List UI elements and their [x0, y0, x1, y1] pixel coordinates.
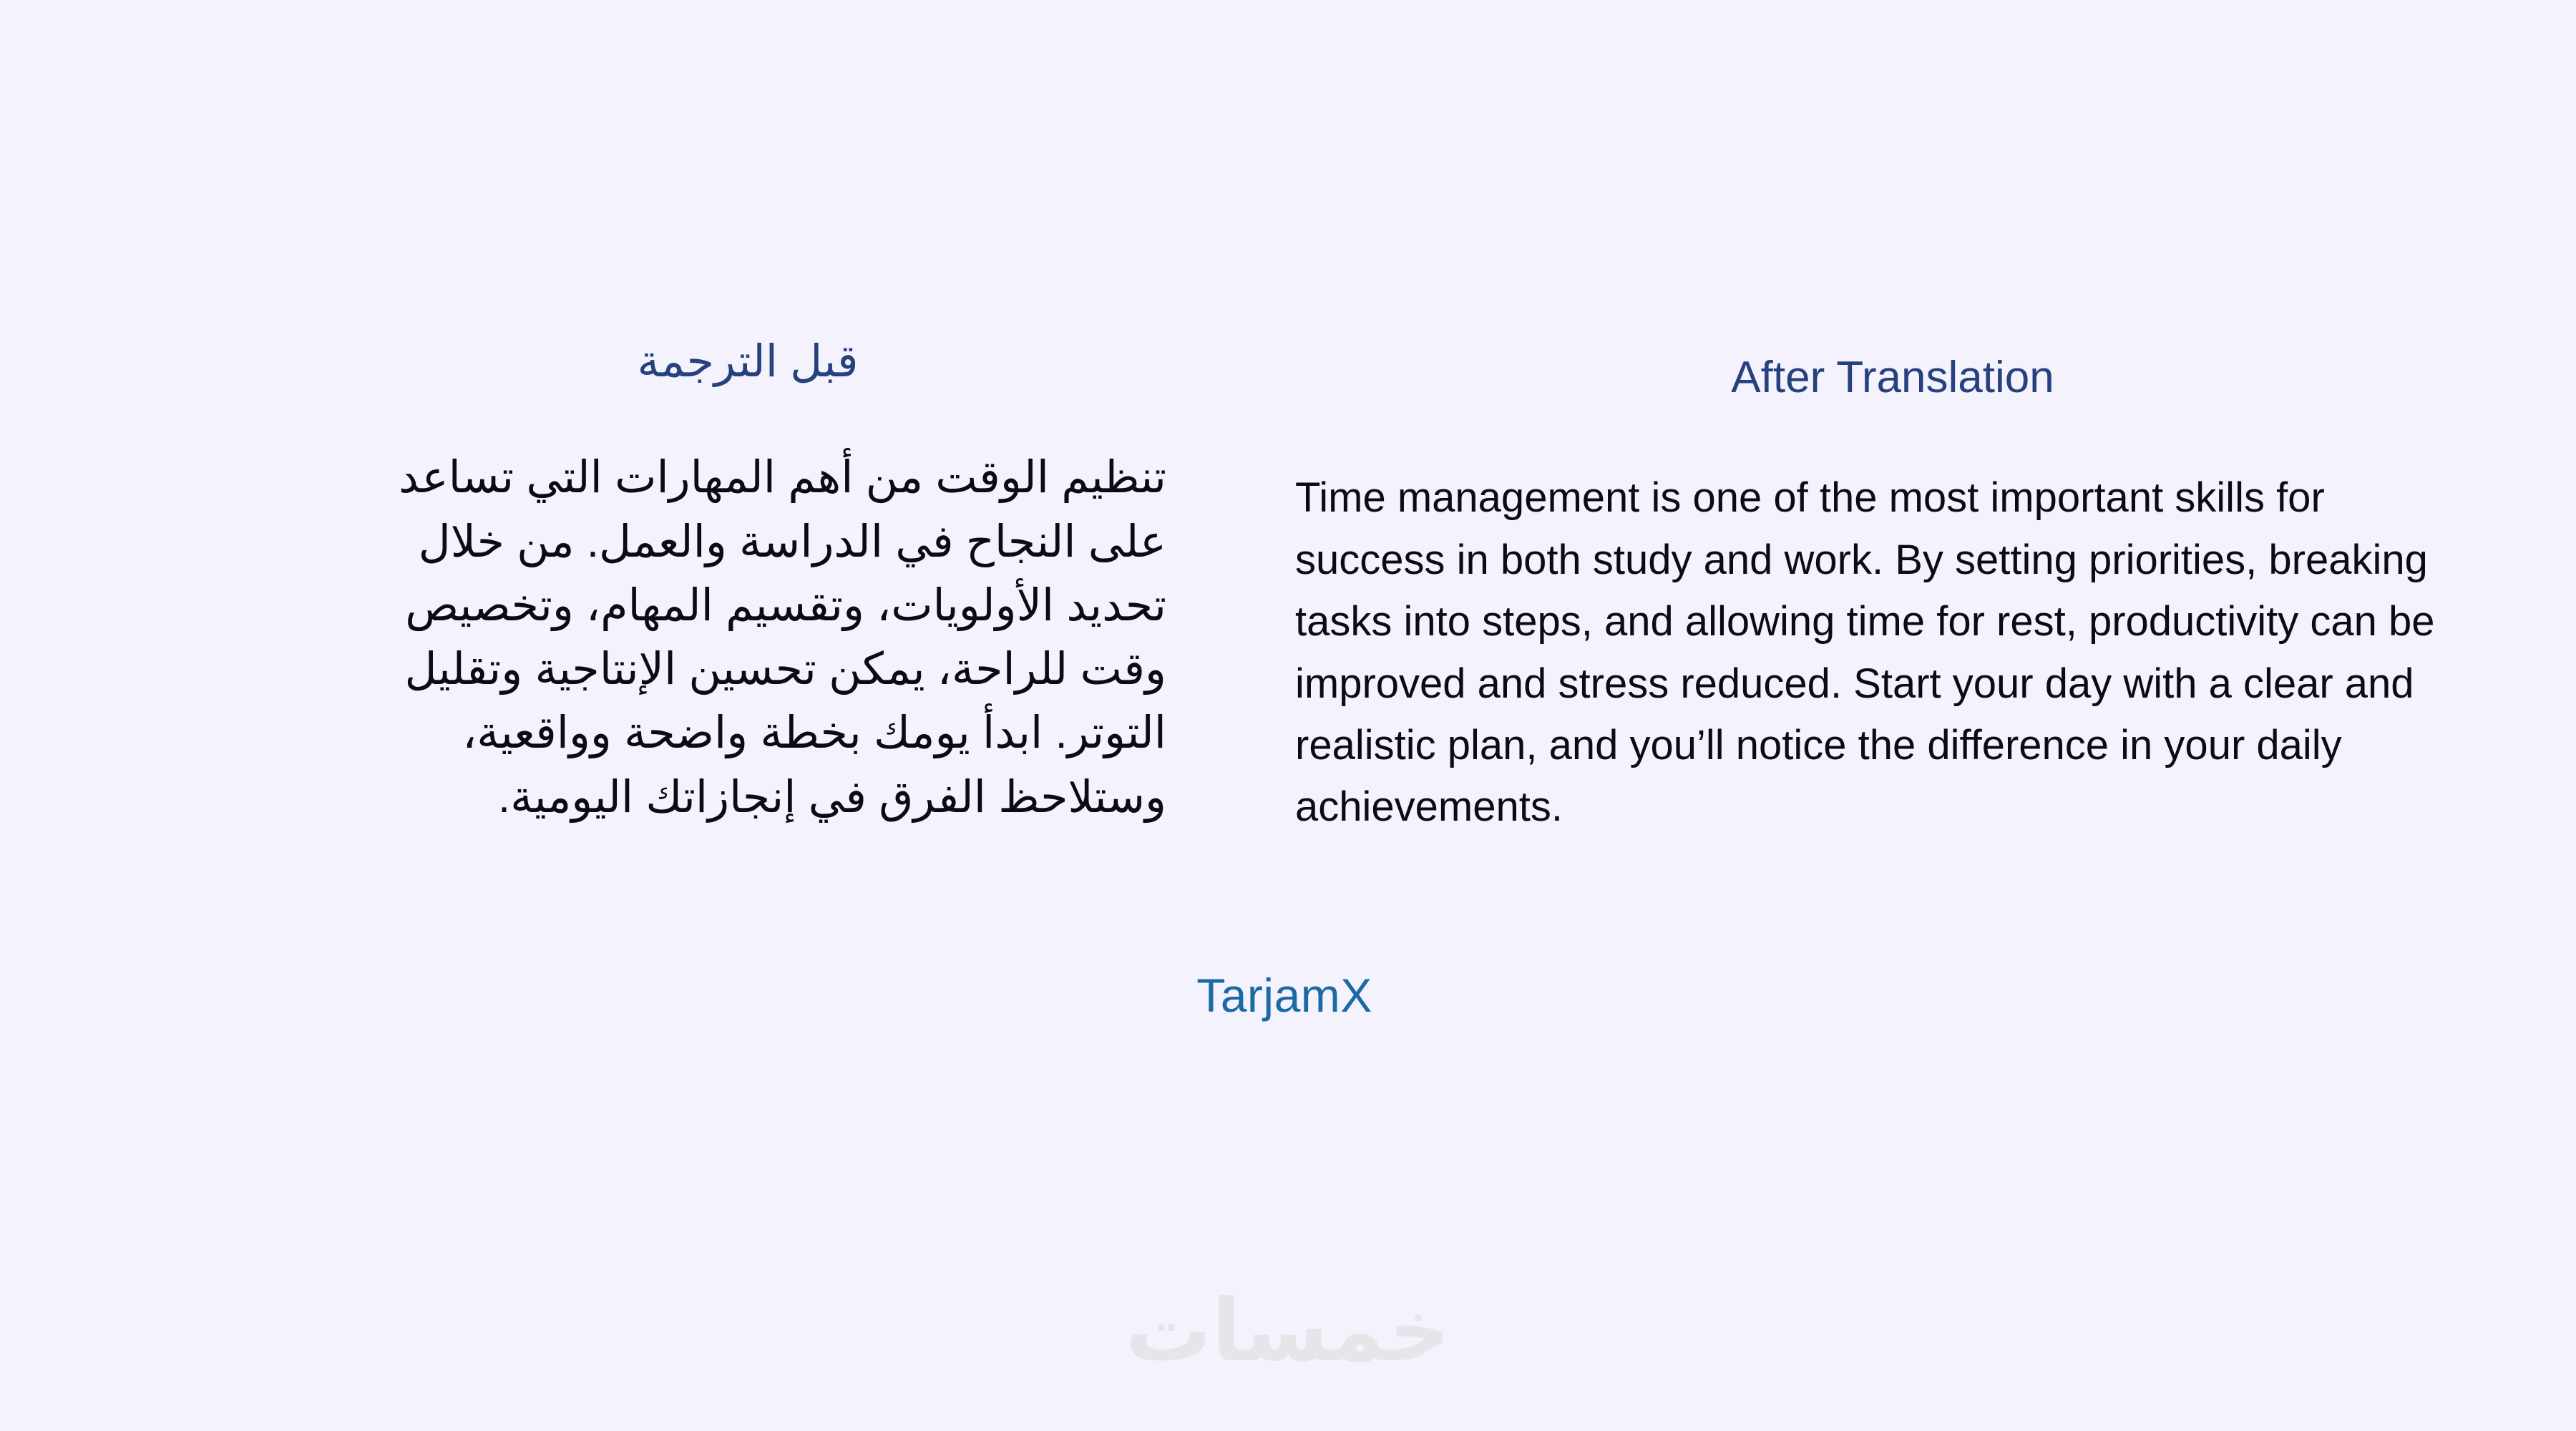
slide-canvas: قبل الترجمة تنظيم الوقت من أهم المهارات … — [0, 0, 2576, 1431]
source-panel-heading: قبل الترجمة — [343, 336, 1166, 387]
watermark: خمسات — [0, 1288, 2576, 1374]
target-panel: After Translation Time management is one… — [1231, 0, 2576, 839]
watermark-label: خمسات — [1126, 1288, 1451, 1374]
target-panel-text: Time management is one of the most impor… — [1295, 403, 2483, 838]
source-panel: قبل الترجمة تنظيم الوقت من أهم المهارات … — [0, 0, 1231, 829]
translation-comparison: قبل الترجمة تنظيم الوقت من أهم المهارات … — [0, 0, 2576, 1073]
target-panel-heading: After Translation — [1295, 336, 2483, 403]
source-panel-text: تنظيم الوقت من أهم المهارات التي تساعد ع… — [343, 387, 1166, 829]
